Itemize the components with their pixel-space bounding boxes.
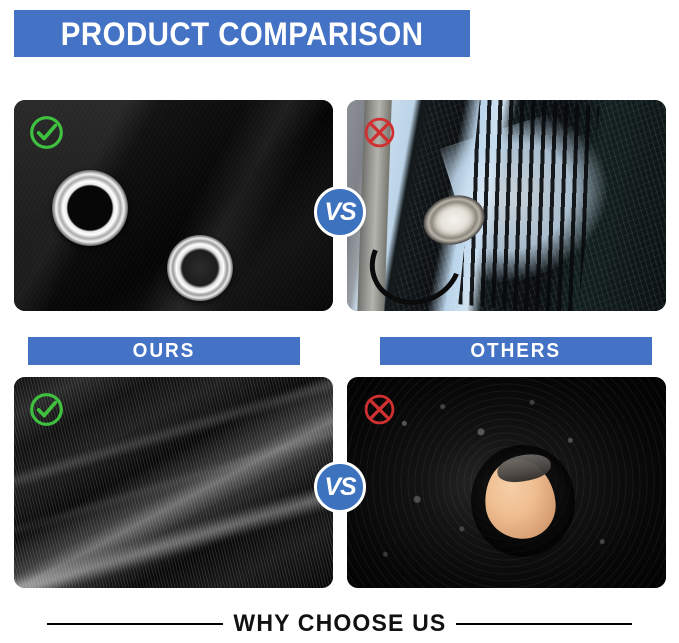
header-banner: PRODUCT COMPARISON bbox=[14, 10, 470, 57]
footer: WHY CHOOSE US bbox=[0, 612, 679, 636]
vs-badge: VS bbox=[314, 186, 366, 238]
footer-title: WHY CHOOSE US bbox=[227, 612, 452, 636]
page-title: PRODUCT COMPARISON bbox=[61, 18, 424, 50]
footer-rule-left bbox=[47, 623, 223, 625]
vs-badge-label: VS bbox=[324, 475, 355, 500]
check-circle-icon bbox=[28, 391, 65, 428]
footer-rule-right bbox=[456, 623, 632, 625]
label-bar-ours: OURS bbox=[28, 337, 300, 365]
label-bar-others: OTHERS bbox=[380, 337, 652, 365]
grommet-upper bbox=[52, 170, 128, 246]
cross-circle-icon bbox=[361, 114, 398, 151]
check-circle-icon bbox=[28, 114, 65, 151]
label-ours-text: OURS bbox=[133, 341, 196, 361]
vs-badge-label: VS bbox=[324, 200, 355, 225]
cross-circle-icon bbox=[361, 391, 398, 428]
vs-badge: VS bbox=[314, 461, 366, 513]
label-others-text: OTHERS bbox=[471, 341, 562, 361]
grommet-lower bbox=[167, 235, 233, 301]
